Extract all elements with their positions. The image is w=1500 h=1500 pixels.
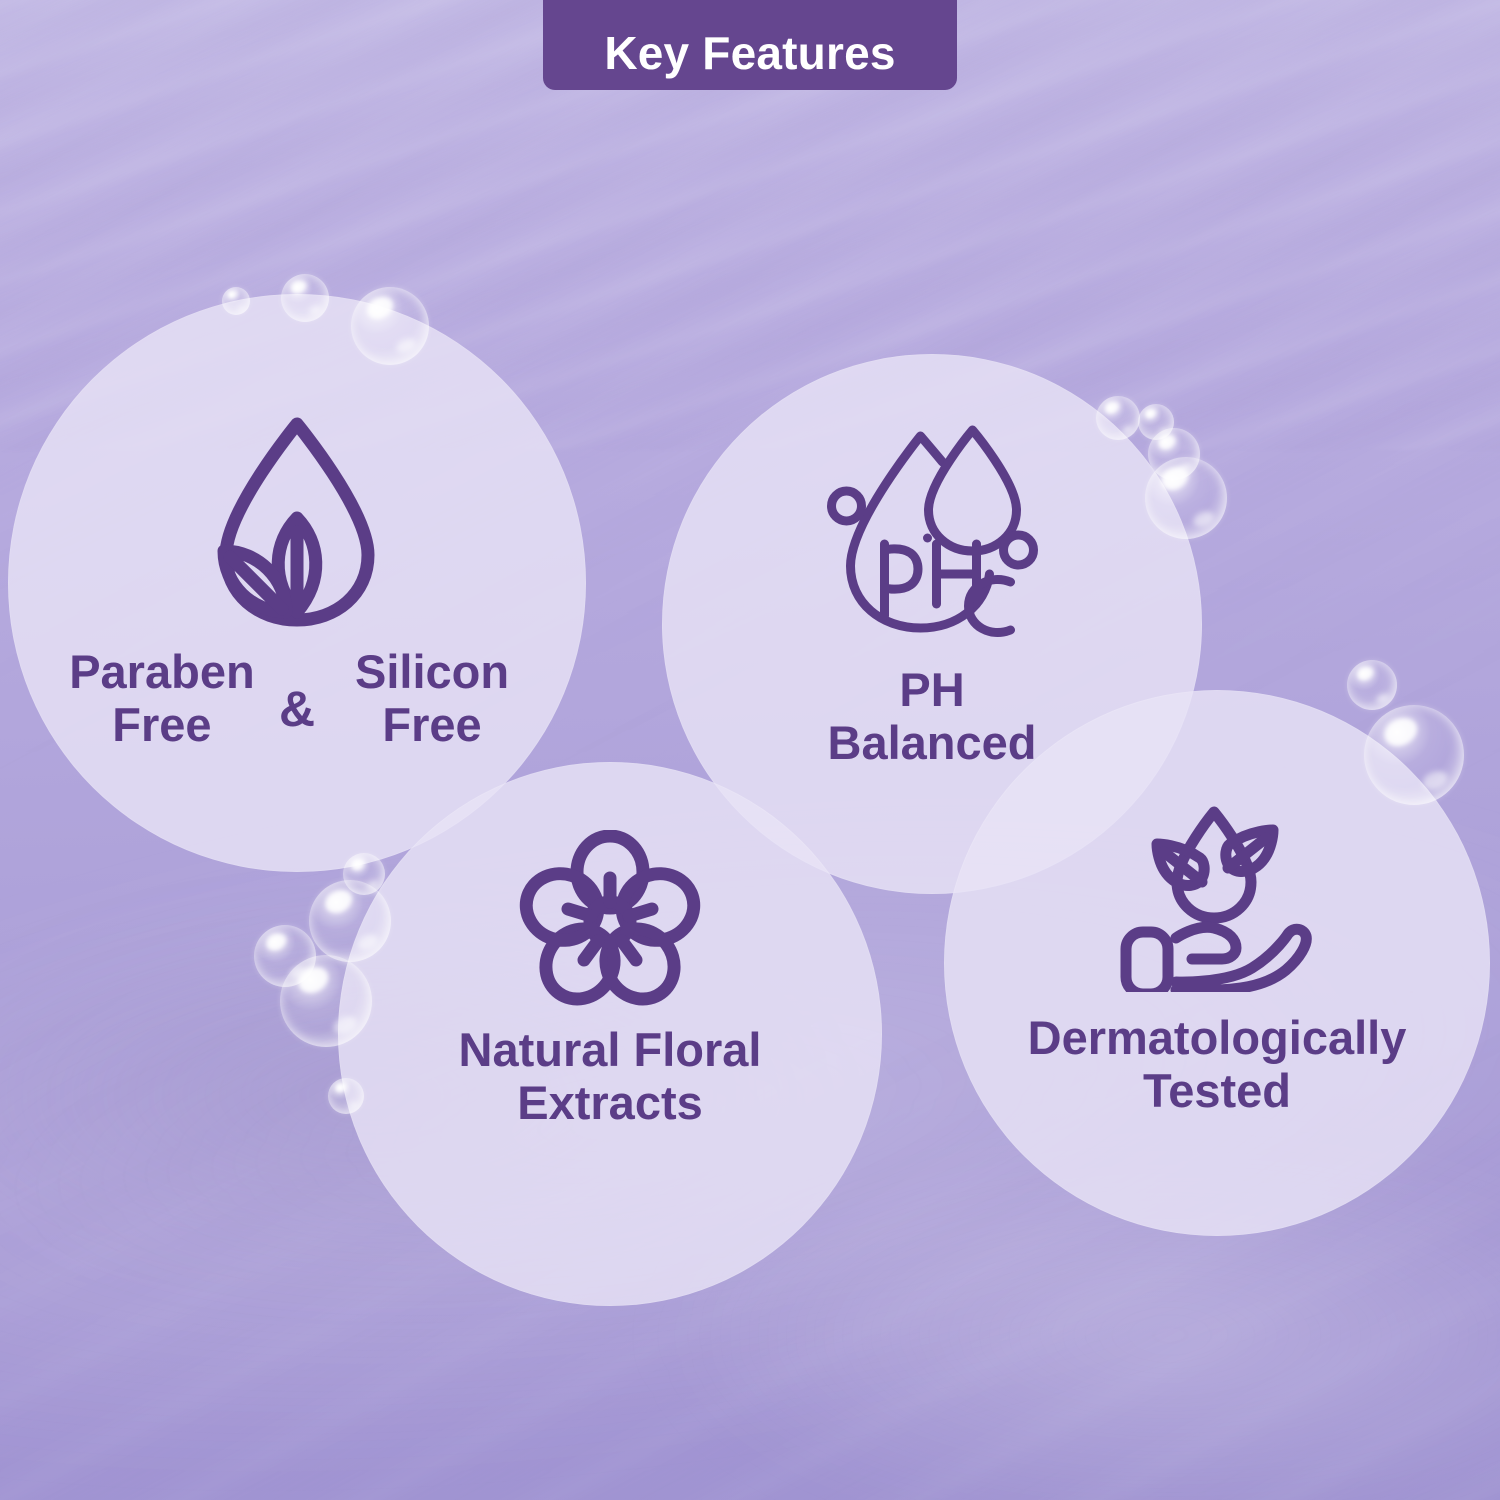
bubble bbox=[1347, 660, 1397, 710]
bubble bbox=[1096, 396, 1140, 440]
hand-droplet-leaf-icon bbox=[1118, 802, 1316, 997]
bubble bbox=[222, 287, 250, 315]
feature-circle-natural-floral-extracts: Natural Floral Extracts bbox=[338, 762, 882, 1306]
feature-label-group: Paraben Free & Silicon Free bbox=[8, 646, 586, 751]
bubble bbox=[351, 287, 429, 365]
bubble bbox=[1145, 457, 1227, 539]
bubble bbox=[328, 1078, 364, 1114]
feature-label-dermatologically-tested: Dermatologically Tested bbox=[928, 1012, 1500, 1117]
bubble bbox=[280, 955, 372, 1047]
bubble bbox=[309, 880, 391, 962]
droplet-leaves-icon bbox=[202, 412, 392, 632]
bubble bbox=[1364, 705, 1464, 805]
feature-label-paraben-free: Paraben Free bbox=[51, 646, 273, 751]
feature-label-silicon-free: Silicon Free bbox=[321, 646, 543, 751]
bubble bbox=[281, 274, 329, 322]
key-features-banner: Key Features bbox=[543, 0, 957, 90]
flower-icon bbox=[519, 830, 701, 1013]
ph-droplet-icon bbox=[825, 416, 1040, 651]
feature-label-natural-floral-extracts: Natural Floral Extracts bbox=[338, 1024, 882, 1129]
feature-label-separator: & bbox=[273, 680, 321, 738]
page-title: Key Features bbox=[604, 30, 895, 76]
key-features-infographic: Key Features Paraben Free bbox=[0, 0, 1500, 1500]
